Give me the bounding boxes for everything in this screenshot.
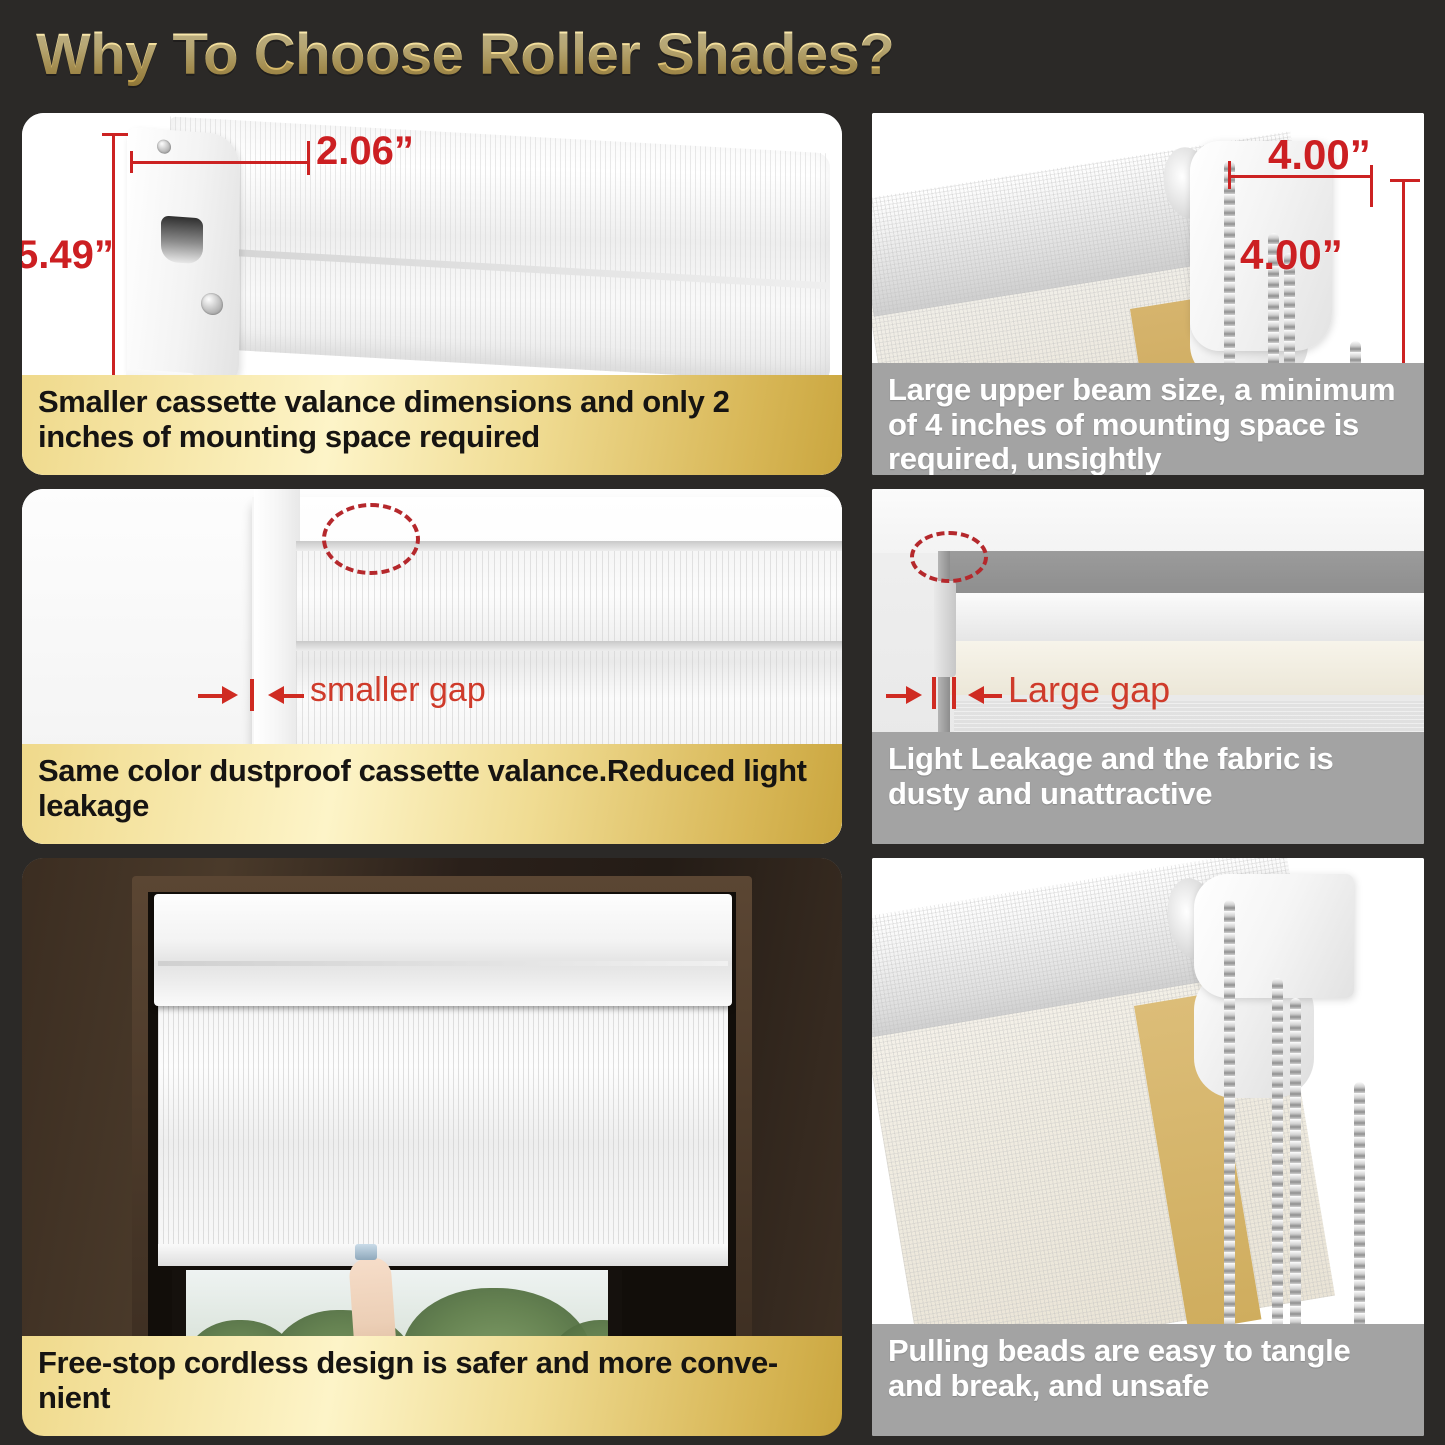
screw-icon	[201, 292, 223, 316]
beam-height-tick	[1390, 179, 1420, 182]
width-dimension-label: 2.06”	[316, 129, 414, 174]
width-dim-tick	[307, 141, 310, 175]
panel-1-caption: Smaller cassette valance dimensions and …	[22, 375, 842, 475]
gap-marker-bar	[932, 677, 936, 709]
cassette-valance	[154, 894, 732, 1006]
roller-shade-fabric	[158, 1004, 728, 1256]
valance-end-cap	[127, 127, 239, 387]
bead-chain	[1224, 900, 1235, 1330]
pull-tab	[355, 1244, 377, 1260]
gap-marker-bar	[250, 679, 254, 711]
upper-beam-shadow	[938, 551, 1424, 595]
bead-chain	[1272, 978, 1283, 1330]
height-dimension-label: 5.49”	[22, 233, 114, 278]
bead-chain	[1290, 998, 1301, 1330]
gap-arrow-tail	[282, 694, 304, 698]
large-gap-label: Large gap	[1008, 669, 1170, 711]
infographic-page: Why To Choose Roller Shades? 2.06” 5.49”	[0, 0, 1445, 1445]
panel-2-caption: Large upper beam size, a minimum of 4 in…	[872, 363, 1424, 475]
valance-slot	[161, 215, 203, 264]
beam-width-tick	[1228, 161, 1231, 189]
panel-cordless-design: Free-stop cordless design is safer and m…	[22, 858, 842, 1436]
gap-arrow-tail	[886, 694, 908, 698]
panel-5-caption: Free-stop cordless design is safer and m…	[22, 1336, 842, 1436]
smaller-gap-label: smaller gap	[310, 671, 486, 710]
beam-height-label: 4.00”	[1240, 231, 1343, 279]
gap-arrow-right	[906, 686, 922, 704]
gap-marker-bar	[952, 677, 956, 709]
panel-4-caption: Light Leakage and the fabric is dusty an…	[872, 732, 1424, 844]
gap-arrow-tail	[198, 694, 224, 698]
shade-bracket	[934, 581, 956, 677]
gap-arrow-right	[222, 686, 238, 704]
gap-highlight-ellipse	[910, 531, 988, 583]
panel-smaller-cassette: 2.06” 5.49” Smaller cassette valance dim…	[22, 113, 842, 475]
beam-width-label: 4.00”	[1268, 131, 1371, 179]
width-dim-tick	[130, 151, 133, 173]
bead-chain	[1354, 1082, 1365, 1330]
panel-light-leakage: Large gap Light Leakage and the fabric i…	[872, 489, 1424, 844]
panel-pulling-beads: Pulling beads are easy to tangle and bre…	[872, 858, 1424, 1436]
panel-large-upper-beam: 4.00” 4.00” Large upper beam size, a min…	[872, 113, 1424, 475]
beam-height-dim-line	[1402, 179, 1405, 369]
page-title: Why To Choose Roller Shades?	[36, 21, 894, 88]
gap-highlight-ellipse	[322, 503, 420, 575]
shade-bottom-bar	[158, 1244, 728, 1266]
page-title-bar: Why To Choose Roller Shades?	[0, 0, 1445, 108]
height-dim-tick	[102, 133, 128, 136]
valance-rail-mid	[296, 641, 842, 651]
cassette-valance-image	[170, 117, 830, 384]
screw-icon	[157, 139, 171, 154]
panel-dustproof-valance: smaller gap Same color dustproof cassett…	[22, 489, 842, 844]
panel-3-caption: Same color dustproof cassette valance.Re…	[22, 744, 842, 844]
panel-6-caption: Pulling beads are easy to tangle and bre…	[872, 1324, 1424, 1436]
gap-arrow-tail	[982, 694, 1002, 698]
width-dimension-line	[130, 161, 310, 164]
upper-beam	[938, 593, 1424, 645]
